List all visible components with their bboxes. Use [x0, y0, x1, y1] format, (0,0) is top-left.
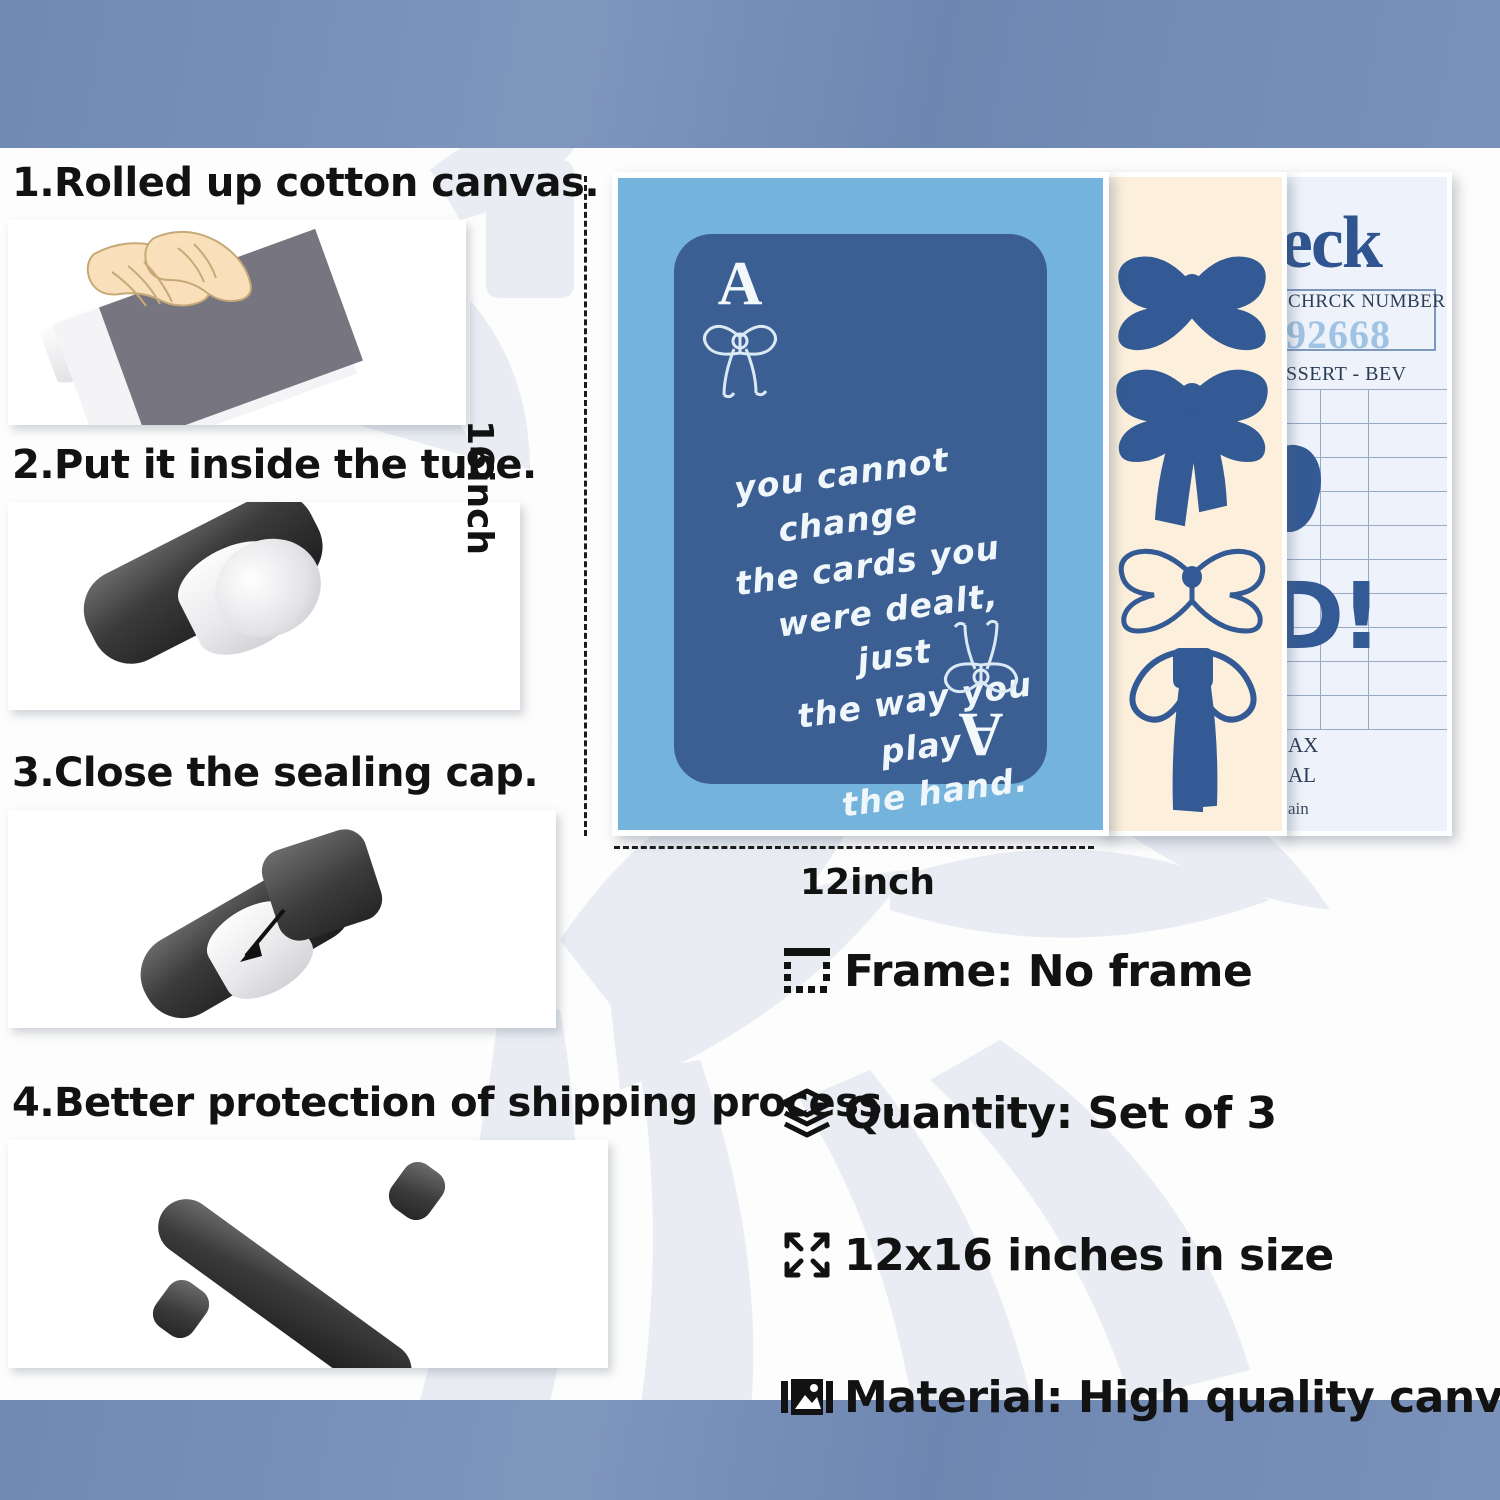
bow-icon — [933, 619, 1029, 705]
spec-quantity-text: Quantity: Set of 3 — [844, 1088, 1277, 1139]
check-paint-text: D! — [1281, 563, 1378, 670]
height-measure-label: 16inch — [459, 420, 500, 555]
poster-bows[interactable] — [1101, 172, 1287, 836]
spec-size-text: 12x16 inches in size — [844, 1230, 1334, 1281]
tube-cap-photo — [8, 810, 556, 1028]
packaging-steps-column: 1.Rolled up cotton canvas. — [0, 160, 615, 1390]
dashed-frame-icon — [770, 944, 844, 998]
hands-illustration — [8, 220, 466, 425]
check-number-label: CHRCK NUMBER — [1288, 291, 1446, 313]
bow-illustrations — [1106, 177, 1282, 831]
image-icon — [770, 1369, 844, 1425]
infographic-canvas: How to package no framed 1.Rolled up cot… — [0, 0, 1500, 1500]
spec-row-material: Material: High quality canvas — [770, 1326, 1490, 1468]
card-face: A you cannot chang — [674, 234, 1047, 784]
width-guide-line — [614, 846, 1094, 849]
resize-arrows-icon — [770, 1227, 844, 1283]
card-corner-letter-2: A — [933, 705, 1029, 762]
tube-open-photo — [8, 502, 520, 710]
check-footnote: ain — [1288, 799, 1309, 819]
spec-material-text: Material: High quality canvas — [844, 1372, 1500, 1423]
sealed-tube-photo — [8, 1140, 608, 1368]
step-3: 3.Close the sealing cap. — [0, 750, 556, 1028]
spec-frame-text: Frame: No frame — [844, 946, 1252, 997]
check-total-label: AL — [1288, 763, 1316, 788]
poster-playing-card[interactable]: A you cannot chang — [612, 172, 1109, 836]
step-1: 1.Rolled up cotton canvas. — [0, 160, 599, 425]
card-corner-bottom-right: A — [933, 612, 1029, 762]
step-4-label: 4.Better protection of shipping process. — [12, 1080, 897, 1126]
rolling-canvas-photo — [8, 220, 466, 425]
height-guide-line — [584, 176, 587, 836]
check-tax-label: AX — [1288, 733, 1318, 758]
step-1-label: 1.Rolled up cotton canvas. — [12, 160, 599, 206]
spec-row-size: 12x16 inches in size — [770, 1184, 1490, 1326]
spec-row-frame: Frame: No frame — [770, 900, 1490, 1042]
poster-check-receipt[interactable]: eck CHRCK NUMBER 92668 SSERT - BEV D! AX… — [1281, 172, 1452, 836]
step-2: 2.Put it inside the tube. — [0, 442, 537, 710]
width-measure-label: 12inch — [800, 862, 935, 903]
spec-row-quantity: Quantity: Set of 3 — [770, 1042, 1490, 1184]
card-corner-letter: A — [692, 256, 788, 313]
bow-icon — [692, 313, 788, 399]
step-4: 4.Better protection of shipping process. — [0, 1080, 897, 1368]
header-band — [0, 0, 1500, 148]
poster-set: eck CHRCK NUMBER 92668 SSERT - BEV D! AX… — [612, 172, 1452, 836]
check-line-grid — [1281, 389, 1451, 729]
insert-arrow-icon — [8, 810, 556, 1028]
layers-icon — [770, 1085, 844, 1141]
check-number-value: 92668 — [1286, 311, 1391, 358]
card-corner-top-left: A — [692, 256, 788, 406]
product-spec-list: Frame: No frame Quantity: Set of 3 — [770, 900, 1490, 1468]
check-department-label: SSERT - BEV — [1286, 363, 1407, 386]
check-title: eck — [1281, 201, 1381, 286]
step-3-label: 3.Close the sealing cap. — [12, 750, 556, 796]
